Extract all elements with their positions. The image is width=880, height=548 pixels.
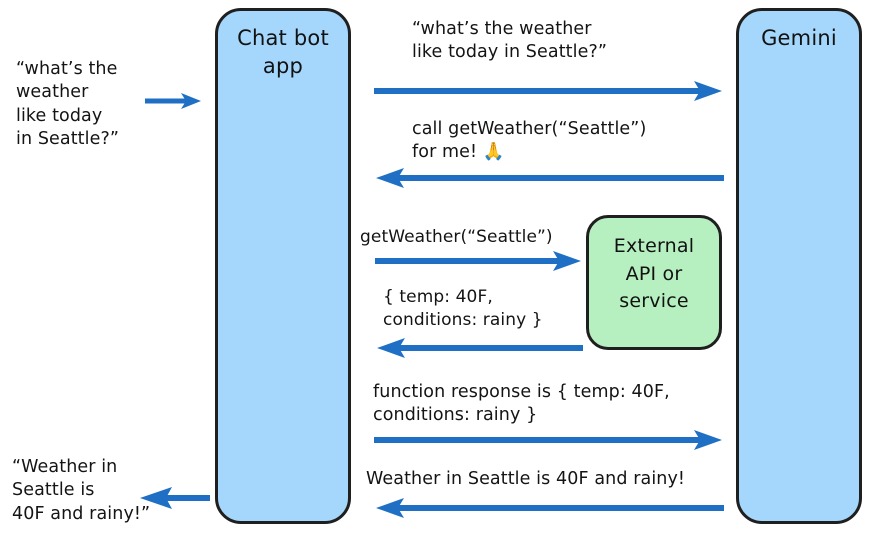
message-app-to-gemini-query-label: “what’s the weather like today in Seattl… [412, 18, 607, 65]
arrow-gemini-to-app-functioncall [374, 167, 724, 189]
participant-external-api[interactable]: External API or service [586, 215, 722, 350]
message-gemini-to-app-functioncall-label: call getWeather(“Seattle”) for me! 🙏 [412, 118, 646, 165]
participant-chatbot-app[interactable]: Chat bot app [215, 8, 351, 524]
message-gemini-to-app-answer-label: Weather in Seattle is 40F and rainy! [366, 468, 685, 491]
user-reply-text: “Weather in Seattle is 40F and rainy!” [12, 456, 150, 526]
arrow-user-to-app [145, 92, 203, 110]
arrow-app-to-user [138, 487, 210, 509]
arrow-app-to-gemini-query [374, 80, 724, 102]
user-request-text: “what’s the weather like today in Seattl… [16, 58, 119, 152]
arrow-gemini-to-app-answer [374, 497, 724, 519]
arrow-api-to-app-result [375, 337, 583, 359]
participant-gemini-label: Gemini [761, 25, 837, 53]
diagram-canvas: Chat bot app Gemini External API or serv… [0, 0, 880, 548]
message-api-to-app-result-label: { temp: 40F, conditions: rainy } [383, 286, 543, 332]
participant-gemini[interactable]: Gemini [736, 8, 862, 524]
participant-chatbot-app-label: Chat bot app [237, 25, 329, 80]
message-app-to-api-call-label: getWeather(“Seattle”) [360, 226, 553, 249]
message-app-to-gemini-response-label: function response is { temp: 40F, condit… [373, 381, 670, 428]
arrow-app-to-gemini-response [374, 429, 724, 451]
participant-external-api-label: External API or service [614, 233, 694, 316]
arrow-app-to-api-call [375, 250, 583, 272]
